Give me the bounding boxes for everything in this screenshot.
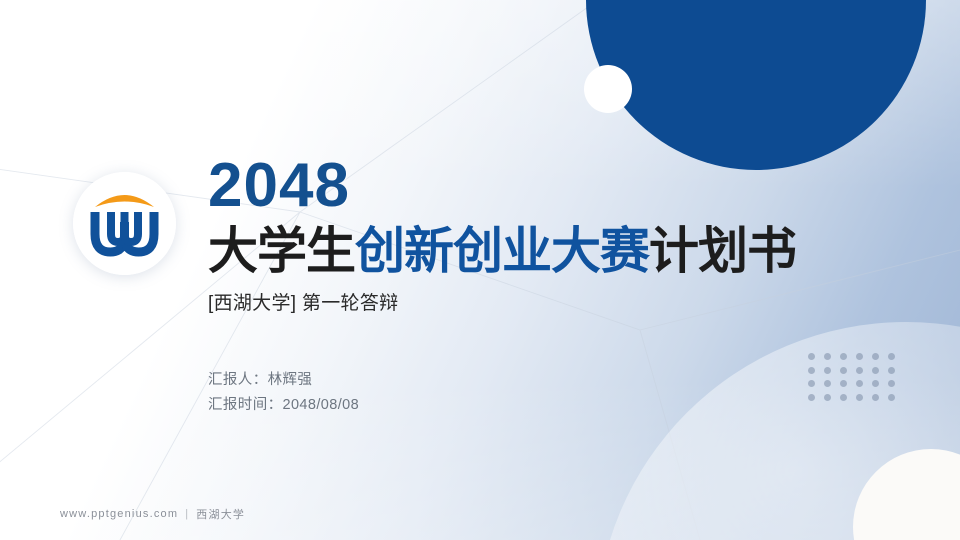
grid-dot: [856, 367, 863, 374]
grid-dot: [840, 353, 847, 360]
grid-dot: [824, 380, 831, 387]
footer-separator: |: [185, 508, 189, 520]
presenter-line: 汇报人：林辉强: [208, 368, 359, 393]
subtitle: [西湖大学] 第一轮答辩: [208, 293, 908, 316]
title-slide: 2048 大学生创新创业大赛计划书 [西湖大学] 第一轮答辩 汇报人：林辉强 汇…: [0, 0, 960, 540]
grid-dot: [808, 380, 815, 387]
westlake-university-logo: [73, 172, 176, 275]
grid-dot: [888, 380, 895, 387]
grid-dot: [872, 394, 879, 401]
grid-dot: [856, 380, 863, 387]
footer-organization: 西湖大学: [196, 506, 245, 522]
university-crest-icon: [73, 172, 176, 275]
grid-dot: [824, 367, 831, 374]
dot-grid-decoration: [803, 350, 899, 404]
grid-dot: [888, 394, 895, 401]
slide-footer: www.pptgenius.com | 西湖大学: [60, 506, 245, 522]
grid-dot: [872, 367, 879, 374]
grid-dot: [888, 353, 895, 360]
headline-segment-leading: 大学生: [208, 223, 355, 279]
grid-dot: [872, 353, 879, 360]
white-dot-decoration: [584, 65, 632, 113]
grid-dot: [856, 394, 863, 401]
headline-segment-accent: 创新创业大赛: [355, 223, 649, 279]
presentation-meta: 汇报人：林辉强 汇报时间：2048/08/08: [208, 368, 359, 419]
grid-dot: [872, 380, 879, 387]
grid-dot: [840, 394, 847, 401]
grid-dot: [808, 367, 815, 374]
grid-dot: [840, 367, 847, 374]
footer-website: www.pptgenius.com: [60, 508, 178, 520]
grid-dot: [840, 380, 847, 387]
grid-dot: [808, 394, 815, 401]
grid-dot: [824, 394, 831, 401]
date-line: 汇报时间：2048/08/08: [208, 393, 359, 418]
title-text-block: 2048 大学生创新创业大赛计划书 [西湖大学] 第一轮答辩: [208, 155, 908, 316]
headline-segment-trailing: 计划书: [649, 223, 796, 279]
grid-dot: [856, 353, 863, 360]
grid-dot: [888, 367, 895, 374]
grid-dot: [824, 353, 831, 360]
main-headline: 大学生创新创业大赛计划书: [208, 225, 908, 277]
year-heading: 2048: [208, 155, 908, 217]
grid-dot: [808, 353, 815, 360]
